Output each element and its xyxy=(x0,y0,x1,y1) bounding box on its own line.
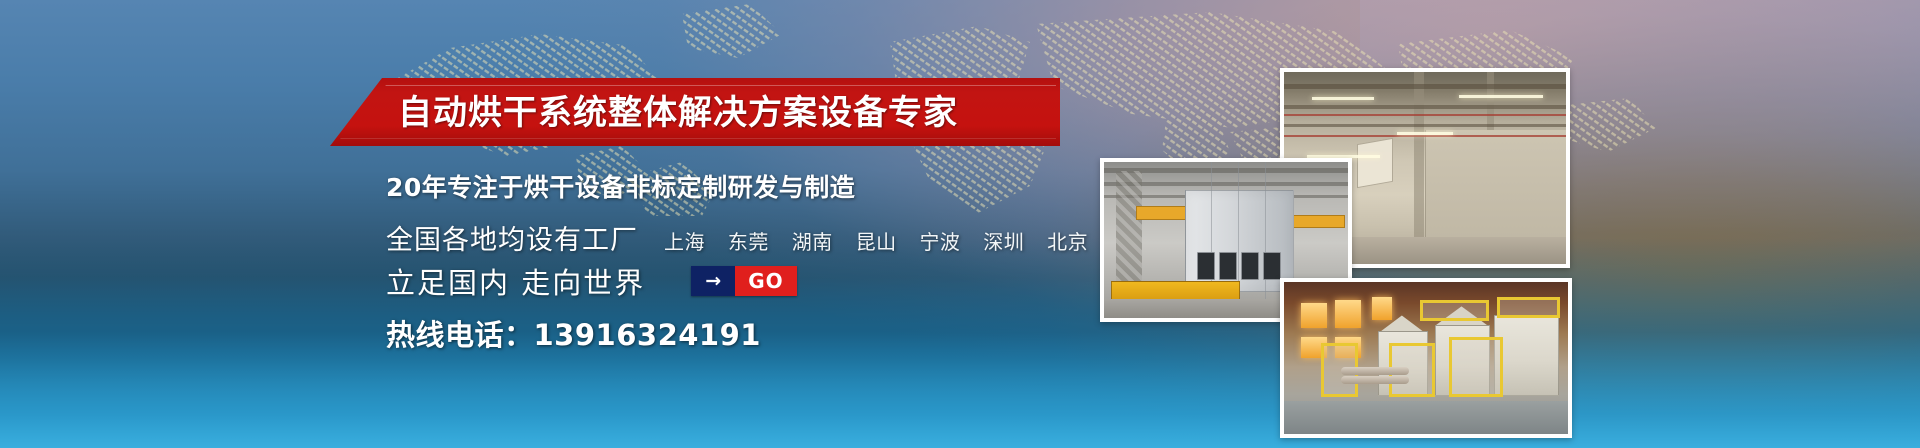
photo-production-line xyxy=(1280,278,1572,438)
city-item: 湖南 xyxy=(792,230,833,254)
city-item: 宁波 xyxy=(919,230,960,254)
city-item: 深圳 xyxy=(983,230,1024,254)
promo-banner: 自动烘干系统整体解决方案设备专家 20年专注于烘干设备非标定制研发与制造 全国各… xyxy=(0,0,1920,448)
arrow-right-icon: → xyxy=(691,266,735,296)
city-item: 北京 xyxy=(1047,230,1088,254)
slogan-text: 立足国内 走向世界 xyxy=(386,260,645,302)
headline-text: 自动烘干系统整体解决方案设备专家 xyxy=(398,88,1038,138)
slogan-line: 立足国内 走向世界 → GO xyxy=(386,260,797,302)
hotline-text: 热线电话：13916324191 xyxy=(386,312,761,354)
city-item: 上海 xyxy=(664,230,705,254)
go-button-label: GO xyxy=(735,266,796,296)
subtitle-text: 20年专注于烘干设备非标定制研发与制造 xyxy=(386,168,855,204)
factories-label: 全国各地均设有工厂 xyxy=(386,218,638,257)
go-button[interactable]: → GO xyxy=(691,266,796,296)
city-item: 昆山 xyxy=(856,230,897,254)
factories-line: 全国各地均设有工厂 上海 东莞 湖南 昆山 宁波 深圳 北京 天津 xyxy=(386,218,1168,257)
background-gradient-cyan xyxy=(0,238,1920,448)
city-item: 东莞 xyxy=(728,230,769,254)
city-list: 上海 东莞 湖南 昆山 宁波 深圳 北京 天津 xyxy=(664,226,1168,255)
